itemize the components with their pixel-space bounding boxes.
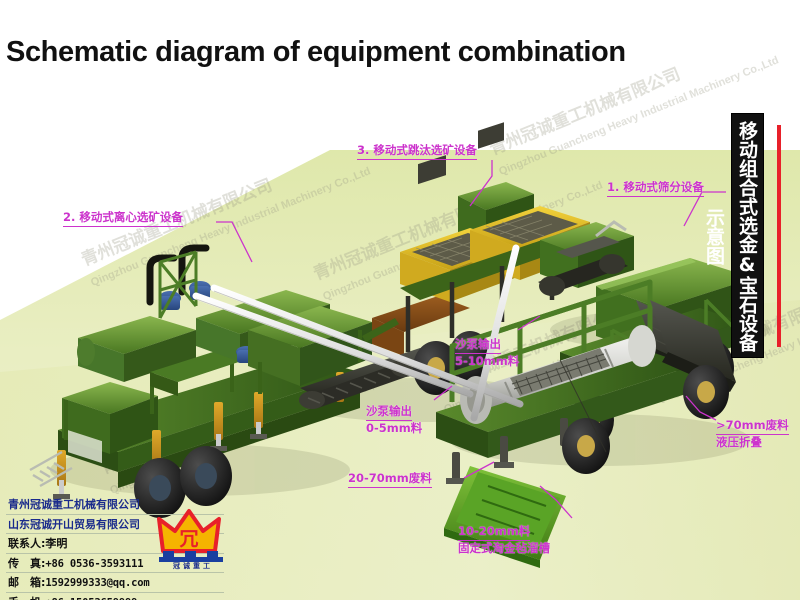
vertical-banner-title: 移动组合式选金&宝石设备示意图 <box>731 113 764 358</box>
logo-caption: 冠诚重工 <box>155 561 231 571</box>
diagram-canvas: 青州冠诚重工机械有限公司 Qingzhou Guancheng Heavy In… <box>0 0 800 600</box>
contact-value: 李明 <box>45 537 67 550</box>
callout-sluice-10-20-line1: 10-20mm料 <box>458 524 530 541</box>
mobile-value: +86 15053659999 <box>45 597 137 600</box>
callout-label-3: 3. 移动式跳汰选矿设备 <box>357 143 477 160</box>
page-title: Schematic diagram of equipment combinati… <box>6 36 626 69</box>
callout-sand-pump-5-10: 沙泵输出 5-10mm料 <box>455 337 519 369</box>
email-value: 1592999333@qq.com <box>45 577 149 589</box>
mobile-row: 手 机:+86 15053659999 <box>6 593 224 600</box>
fax-label: 传 真 <box>8 554 41 574</box>
email-row: 邮 箱:1592999333@qq.com <box>6 573 224 593</box>
svg-text:冗: 冗 <box>179 528 198 550</box>
contact-label: 联系人 <box>8 534 41 554</box>
callout-sand-pump-0-5-line1: 沙泵输出 <box>366 404 412 421</box>
mobile-label: 手 机 <box>8 593 41 600</box>
callout-sluice-10-20-line2: 固定式淘金毡溜槽 <box>458 541 550 556</box>
callout-waste-20-70-text: 20-70mm废料 <box>348 471 432 488</box>
callout-waste-over-70: >70mm废料 液压折叠 <box>716 418 789 450</box>
email-label: 邮 箱 <box>8 573 41 593</box>
callout-waste-over-70-line2: 液压折叠 <box>716 435 789 450</box>
callout-sand-pump-0-5-line2: 0-5mm料 <box>366 421 422 436</box>
callout-sand-pump-0-5: 沙泵输出 0-5mm料 <box>366 404 422 436</box>
fax-value: +86 0536-3593111 <box>45 558 143 570</box>
callout-sand-pump-5-10-line1: 沙泵输出 <box>455 337 501 354</box>
callout-label-3-text: 3. 移动式跳汰选矿设备 <box>357 143 477 160</box>
callout-label-1: 1. 移动式筛分设备 <box>607 180 704 197</box>
callout-label-2-text: 2. 移动式离心选矿设备 <box>63 210 183 227</box>
callout-waste-over-70-line1: >70mm废料 <box>716 418 789 435</box>
callout-label-2: 2. 移动式离心选矿设备 <box>63 210 183 227</box>
company-logo: 冗 冠诚重工 <box>155 505 231 571</box>
red-accent-bar <box>777 125 781 347</box>
callout-sand-pump-5-10-line2: 5-10mm料 <box>455 354 519 369</box>
callout-label-1-text: 1. 移动式筛分设备 <box>607 180 704 197</box>
callout-waste-20-70: 20-70mm废料 <box>348 471 432 488</box>
callout-sluice-10-20: 10-20mm料 固定式淘金毡溜槽 <box>458 524 550 556</box>
